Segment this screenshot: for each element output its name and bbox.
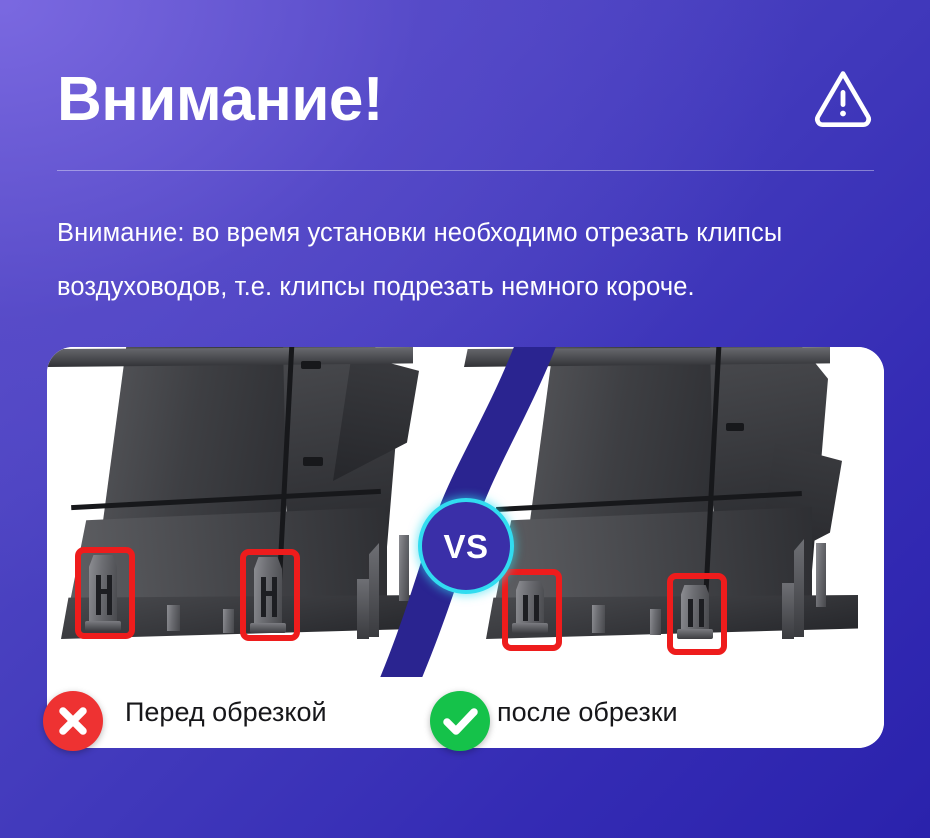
photo-after-cut xyxy=(464,347,884,677)
warning-triangle-icon xyxy=(812,66,874,128)
attention-banner: Внимание! Внимание: во время установки н… xyxy=(0,0,930,838)
label-after-cut: после обрезки xyxy=(497,677,678,748)
check-icon xyxy=(430,691,490,751)
clip-highlight-box xyxy=(502,569,562,651)
clip-highlight-box xyxy=(240,549,300,641)
header-divider xyxy=(57,170,874,171)
label-before-cut: Перед обрезкой xyxy=(125,677,327,748)
notice-text: Внимание: во время установки необходимо … xyxy=(57,206,887,314)
header: Внимание! xyxy=(57,52,874,148)
clip-highlight-box xyxy=(75,547,135,639)
air-duct-part-after xyxy=(464,347,884,677)
clip-highlight-box xyxy=(667,573,727,655)
vs-label: VS xyxy=(443,530,488,563)
air-duct-part-before xyxy=(47,347,467,677)
cross-icon xyxy=(43,691,103,751)
page-title: Внимание! xyxy=(57,52,383,148)
photo-before-cut xyxy=(47,347,467,677)
vs-badge: VS xyxy=(418,498,514,594)
